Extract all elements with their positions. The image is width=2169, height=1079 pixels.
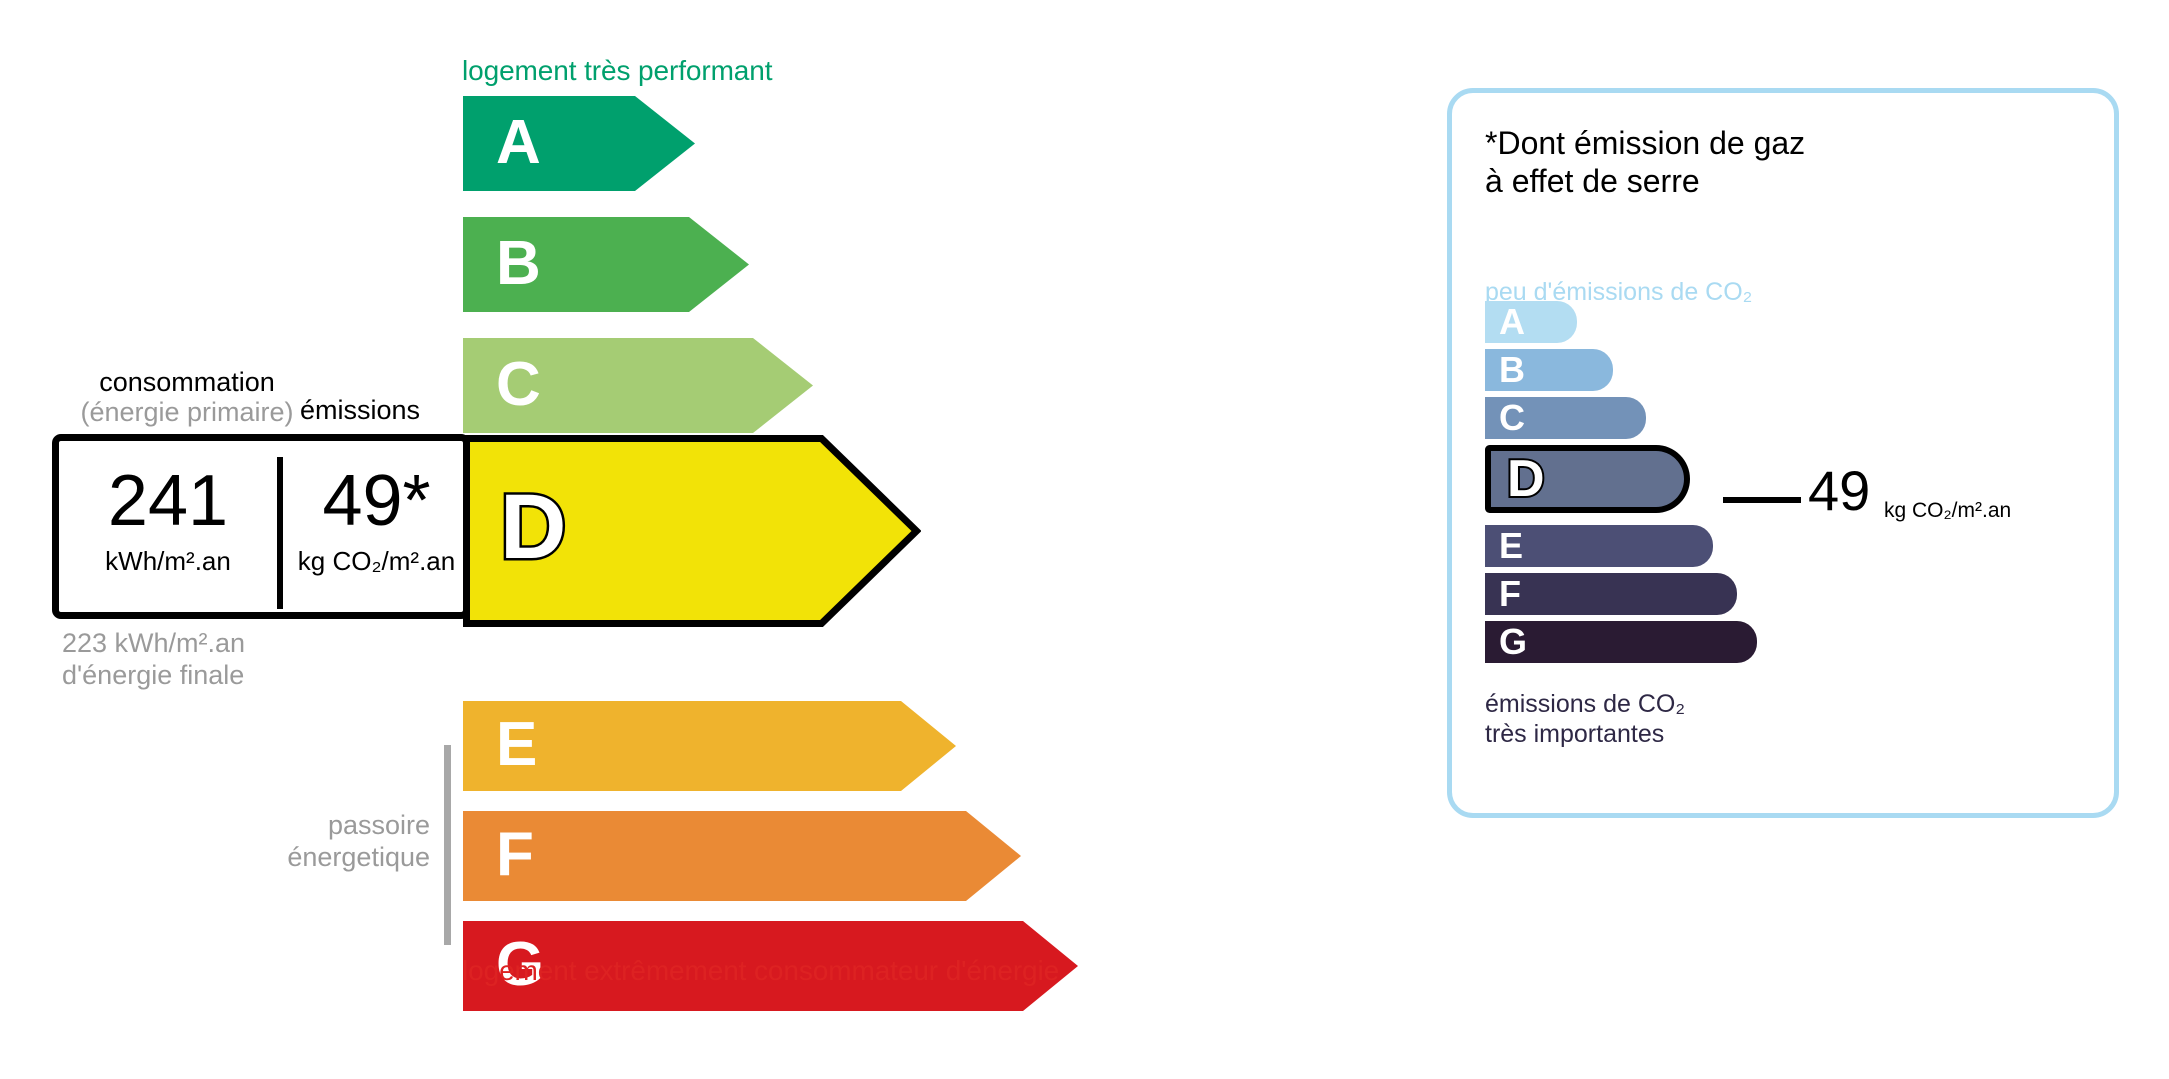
energy-class-letter-a: A — [496, 112, 541, 174]
consumption-label-main: consommation — [99, 367, 275, 397]
ges-class-bar-b: B — [1485, 349, 1613, 391]
ges-class-letter-e: E — [1499, 528, 1523, 564]
energy-class-row-c: C — [462, 337, 828, 432]
emissions-label: émissions — [300, 395, 420, 426]
ges-class-row-f: F — [1485, 573, 1737, 615]
energy-class-letter-c: C — [496, 354, 541, 416]
ges-callout-leader-line — [1723, 497, 1801, 503]
emissions-value-cell: 49* kg CO₂/m².an — [283, 441, 470, 612]
ges-class-letter-d: D — [1507, 453, 1545, 505]
emissions-value: 49* — [283, 465, 470, 537]
energy-class-row-b: B — [462, 216, 764, 311]
energy-class-row-f: F — [462, 810, 1036, 900]
ges-class-letter-c: C — [1499, 400, 1525, 436]
energy-class-arrow-d: D — [462, 434, 928, 619]
energy-class-arrow-f: F — [462, 810, 1036, 900]
passoire-bracket — [444, 745, 451, 945]
ges-class-row-d: D — [1485, 445, 1690, 513]
ges-class-row-c: C — [1485, 397, 1646, 439]
energy-class-arrow-c: C — [462, 337, 828, 432]
energy-class-row-a: A — [462, 95, 710, 190]
ges-class-row-a: A — [1485, 301, 1577, 343]
energy-bottom-caption: logement extrêmement consommateur d'éner… — [462, 955, 1059, 987]
ges-class-bar-a: A — [1485, 301, 1577, 343]
energy-class-letter-d: D — [500, 481, 566, 573]
energy-class-letter-e: E — [496, 714, 537, 776]
passoire-label: passoire énergetique — [210, 810, 430, 873]
energy-class-arrow-a: A — [462, 95, 710, 190]
consumption-value: 241 — [59, 465, 277, 537]
ges-callout-unit: kg CO₂/m².an — [1884, 500, 2011, 521]
energy-class-arrow-e: E — [462, 700, 971, 790]
energy-performance-panel: logement très performant ABCDEFG consomm… — [0, 0, 1400, 1079]
ges-title: *Dont émission de gaz à effet de serre — [1485, 125, 1805, 201]
energy-class-letter-f: F — [496, 824, 534, 886]
ges-class-letter-g: G — [1499, 624, 1527, 660]
ges-callout-value: 49 — [1808, 463, 1870, 519]
ges-class-letter-a: A — [1499, 304, 1525, 340]
ges-bottom-caption: émissions de CO₂ très importantes — [1485, 690, 1685, 749]
consumption-label: consommation (énergie primaire) — [62, 367, 312, 427]
emissions-unit: kg CO₂/m².an — [283, 547, 470, 577]
ges-class-row-g: G — [1485, 621, 1757, 663]
ges-class-row-e: E — [1485, 525, 1713, 567]
energy-top-caption: logement très performant — [462, 55, 772, 87]
value-readout-box: 241 kWh/m².an 49* kg CO₂/m².an — [52, 434, 470, 619]
ges-class-bar-d: D — [1485, 445, 1690, 513]
energy-class-row-e: E — [462, 700, 971, 790]
ges-class-letter-b: B — [1499, 352, 1525, 388]
dpe-energy-label-graphic: logement très performant ABCDEFG consomm… — [0, 0, 2169, 1079]
ges-class-bar-f: F — [1485, 573, 1737, 615]
ges-class-letter-f: F — [1499, 576, 1521, 612]
consumption-value-cell: 241 kWh/m².an — [59, 441, 277, 612]
consumption-label-sub: (énergie primaire) — [62, 397, 312, 427]
final-energy-note: 223 kWh/m².an d'énergie finale — [62, 628, 245, 691]
consumption-unit: kWh/m².an — [59, 547, 277, 577]
ges-class-bar-g: G — [1485, 621, 1757, 663]
ges-class-bar-e: E — [1485, 525, 1713, 567]
energy-class-arrow-b: B — [462, 216, 764, 311]
ges-class-row-b: B — [1485, 349, 1613, 391]
energy-class-letter-b: B — [496, 233, 541, 295]
ges-class-bar-c: C — [1485, 397, 1646, 439]
energy-class-row-d: D — [462, 434, 928, 619]
ges-panel: *Dont émission de gaz à effet de serre p… — [1447, 88, 2119, 818]
